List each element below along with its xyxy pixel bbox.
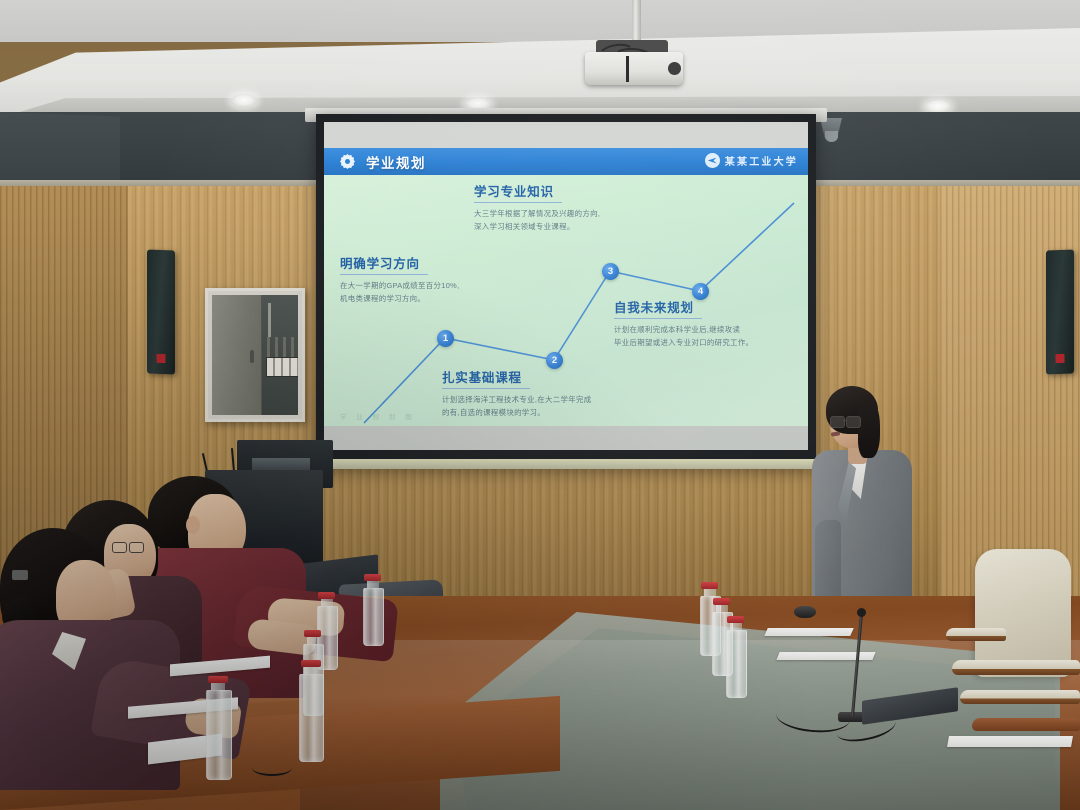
slide-block-4: 自我未来规划 计划在顺利完成本科学业后,继续攻读 毕业后期望或进入专业对口的研究… xyxy=(614,297,753,351)
projector-lens-icon xyxy=(668,62,681,75)
projector-mount-arm xyxy=(632,0,641,42)
slide-body: 1 2 3 4 明确学习方向 在大一学期的GPA成绩至百分10%, 机电类课程的… xyxy=(324,175,808,426)
heading-underline xyxy=(442,388,530,389)
slide-header: 学业规划 某某工业大学 xyxy=(324,148,808,175)
heading-underline xyxy=(614,318,702,319)
paper-sheet xyxy=(947,736,1073,747)
university-logo-icon xyxy=(705,153,720,168)
downlight-icon xyxy=(231,94,257,107)
wall-speaker-right xyxy=(1046,249,1074,374)
ceiling-camera-dome xyxy=(825,131,838,142)
chair-1[interactable] xyxy=(975,549,1071,677)
block-1-heading: 明确学习方向 xyxy=(340,253,460,272)
bottle-cap xyxy=(701,582,718,589)
slide-block-1: 明确学习方向 在大一学期的GPA成绩至百分10%, 机电类课程的学习方向。 xyxy=(340,253,460,307)
bottle-body xyxy=(206,690,232,780)
chair-armrest xyxy=(952,660,1080,675)
breaker-wires xyxy=(267,337,298,357)
university-name: 某某工业大学 xyxy=(725,153,798,168)
bottle-cap xyxy=(304,630,321,637)
screen-bottom-bar xyxy=(310,459,822,469)
university-branding: 某某工业大学 xyxy=(705,153,798,168)
block-1-line-1: 在大一学期的GPA成绩至百分10%, xyxy=(340,280,460,291)
heading-underline xyxy=(340,274,428,275)
electrical-panel[interactable] xyxy=(205,288,305,422)
heading-underline xyxy=(474,202,562,203)
slide-block-2: 扎实基础课程 计划选择海洋工程技术专业,在大二学年完成 的有,自选的课程模块的学… xyxy=(442,367,591,421)
bottle-cap xyxy=(318,592,335,599)
electrical-panel-door[interactable] xyxy=(212,295,262,415)
chair-armrest xyxy=(946,628,1006,641)
paper-sheet xyxy=(764,628,854,636)
node-1: 1 xyxy=(437,330,454,347)
bottle-cap xyxy=(208,676,228,683)
glasses-icon xyxy=(830,416,860,426)
chair-wood-trim xyxy=(972,718,1080,731)
projection-screen: 学业规划 某某工业大学 1 2 3 4 明确学习方向 在大一学期的 xyxy=(324,122,808,450)
water-bottle[interactable] xyxy=(363,574,382,646)
block-2-heading: 扎实基础课程 xyxy=(442,367,591,386)
block-1-line-2: 机电类课程的学习方向。 xyxy=(340,293,460,304)
panel-handle-icon[interactable] xyxy=(250,350,254,363)
bottle-neck xyxy=(211,683,225,690)
water-bottle[interactable] xyxy=(299,660,322,762)
bottle-cap xyxy=(727,616,744,623)
bottle-neck xyxy=(367,581,379,588)
bottle-cap xyxy=(713,598,730,605)
conference-room-scene: 学业规划 某某工业大学 1 2 3 4 明确学习方向 在大一学期的 xyxy=(0,0,1080,810)
glasses-icon xyxy=(112,542,144,552)
bottle-cap xyxy=(364,574,381,581)
block-3-heading: 学习专业知识 xyxy=(474,181,600,200)
bottle-neck xyxy=(321,599,333,606)
gear-icon xyxy=(340,154,355,169)
computer-mouse[interactable] xyxy=(794,606,816,618)
block-4-line-2: 毕业后期望或进入专业对口的研究工作。 xyxy=(614,337,753,348)
bottle-body xyxy=(726,630,747,698)
electrical-panel-interior xyxy=(212,295,298,415)
bottle-neck xyxy=(304,667,318,674)
hair-clip-icon xyxy=(12,570,28,580)
attendee-3-ear xyxy=(186,516,200,534)
projector-wire xyxy=(626,56,629,82)
slide-watermark: 学 业 规 划 图 xyxy=(340,411,416,421)
block-2-line-2: 的有,自选的课程模块的学习。 xyxy=(442,407,591,418)
bottle-neck xyxy=(307,637,319,644)
block-4-line-1: 计划在顺利完成本科学业后,继续攻读 xyxy=(614,324,753,335)
bottle-neck xyxy=(716,605,728,612)
block-3-line-1: 大三学年根据了解情况及兴趣的方向, xyxy=(474,208,600,219)
chair-armrest xyxy=(960,690,1080,704)
wall-speaker-left xyxy=(147,249,175,374)
circuit-breakers xyxy=(266,357,298,377)
water-bottle[interactable] xyxy=(726,616,745,698)
bottle-cap xyxy=(301,660,321,667)
slide-block-3: 学习专业知识 大三学年根据了解情况及兴趣的方向, 深入学习相关领域专业课程。 xyxy=(474,181,600,235)
block-2-line-1: 计划选择海洋工程技术专业,在大二学年完成 xyxy=(442,394,591,405)
slide-title: 学业规划 xyxy=(366,152,426,172)
cable xyxy=(252,760,292,776)
bottle-neck xyxy=(730,623,742,630)
water-bottle[interactable] xyxy=(206,676,230,780)
presenter-hair-back xyxy=(858,400,880,458)
paper-sheet xyxy=(776,652,875,660)
node-3: 3 xyxy=(602,263,619,280)
presentation-slide: 学业规划 某某工业大学 1 2 3 4 明确学习方向 在大一学期的 xyxy=(324,148,808,426)
bottle-body xyxy=(363,588,384,646)
conduit xyxy=(268,303,271,337)
microphone-head xyxy=(857,608,866,617)
block-4-heading: 自我未来规划 xyxy=(614,297,753,316)
speaker-logo-icon xyxy=(1056,354,1065,363)
upper-wall-band-left xyxy=(0,112,120,186)
speaker-logo-icon xyxy=(157,354,166,363)
block-3-line-2: 深入学习相关领域专业课程。 xyxy=(474,221,600,232)
bottle-body xyxy=(299,674,324,762)
bottle-neck xyxy=(704,589,716,596)
